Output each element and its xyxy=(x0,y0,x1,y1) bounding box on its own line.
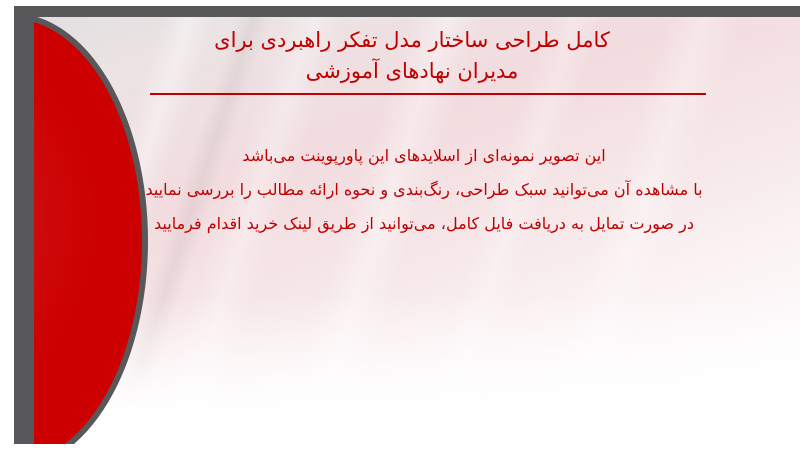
slide-title: کامل طراحی ساختار مدل تفکر راهبردی برای … xyxy=(106,25,718,87)
slide-frame-border: کامل طراحی ساختار مدل تفکر راهبردی برای … xyxy=(14,6,800,444)
slide-content-panel: کامل طراحی ساختار مدل تفکر راهبردی برای … xyxy=(34,17,800,444)
presentation-slide: کامل طراحی ساختار مدل تفکر راهبردی برای … xyxy=(0,0,800,450)
slide-body-line-2: با مشاهده آن می‌توانید سبک طراحی، رنگ‌بن… xyxy=(104,173,744,207)
slide-title-line-2: مدیران نهادهای آموزشی xyxy=(106,56,718,87)
slide-body-line-1: این تصویر نمونه‌ای از اسلایدهای این پاور… xyxy=(104,139,744,173)
slide-body-text: این تصویر نمونه‌ای از اسلایدهای این پاور… xyxy=(104,139,744,241)
slide-body-line-3: در صورت تمایل به دریافت فایل کامل، می‌تو… xyxy=(104,207,744,241)
background-bottom-fade xyxy=(34,295,800,444)
slide-title-line-1: کامل طراحی ساختار مدل تفکر راهبردی برای xyxy=(106,25,718,56)
title-underline-rule xyxy=(150,93,706,95)
